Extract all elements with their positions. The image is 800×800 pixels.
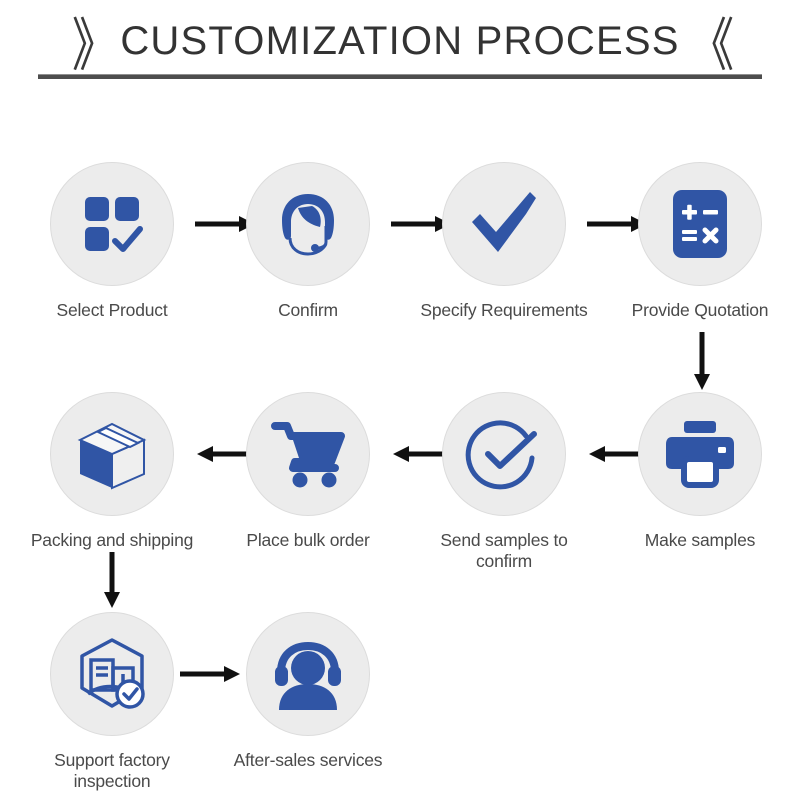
process-step-packing-and-shipping[interactable]: Packing and shipping	[22, 392, 202, 551]
calculator-icon	[667, 186, 733, 262]
step-label: Packing and shipping	[22, 530, 202, 551]
process-step-specify-requirements[interactable]: Specify Requirements	[414, 162, 594, 321]
step-label: Place bulk order	[218, 530, 398, 551]
step-icon-circle	[50, 162, 174, 286]
step-label: Support factory inspection	[22, 750, 202, 792]
arrow-down-icon-row2-row3	[98, 552, 126, 610]
step-icon-circle	[638, 162, 762, 286]
grid-check-icon	[77, 189, 147, 259]
step-icon-circle	[50, 612, 174, 736]
chevron-right-decoration: 《	[688, 0, 728, 82]
step-label: Confirm	[218, 300, 398, 321]
process-step-select-product[interactable]: Select Product	[22, 162, 202, 321]
arrow-down-icon-row1-row2	[688, 332, 716, 392]
process-step-make-samples[interactable]: Make samples	[610, 392, 790, 551]
checkmark-icon	[464, 184, 544, 264]
circle-check-icon	[464, 414, 544, 494]
process-step-place-bulk-order[interactable]: Place bulk order	[218, 392, 398, 551]
step-label: Send samples to confirm	[414, 530, 594, 572]
step-icon-circle	[442, 392, 566, 516]
page-header: 》 CUSTOMIZATION PROCESS 《	[0, 0, 800, 88]
step-label: Make samples	[610, 530, 790, 551]
step-icon-circle	[246, 612, 370, 736]
shopping-cart-icon	[269, 418, 347, 490]
step-label: Specify Requirements	[414, 300, 594, 321]
package-box-icon	[72, 416, 152, 492]
support-person-icon	[269, 638, 347, 710]
process-step-send-samples-to-confirm[interactable]: Send samples to confirm	[414, 392, 594, 572]
process-step-confirm[interactable]: Confirm	[218, 162, 398, 321]
factory-shield-icon	[72, 634, 152, 714]
step-icon-circle	[246, 162, 370, 286]
step-icon-circle	[442, 162, 566, 286]
step-label: After-sales services	[218, 750, 398, 771]
page-title: CUSTOMIZATION PROCESS	[116, 19, 683, 64]
process-step-support-factory-inspection[interactable]: Support factory inspection	[22, 612, 202, 792]
step-icon-circle	[638, 392, 762, 516]
step-label: Select Product	[22, 300, 202, 321]
printer-icon	[662, 419, 738, 489]
process-step-provide-quotation[interactable]: Provide Quotation	[610, 162, 790, 321]
step-icon-circle	[50, 392, 174, 516]
headset-agent-icon	[268, 184, 348, 264]
chevron-left-decoration: 》	[72, 0, 112, 82]
step-label: Provide Quotation	[610, 300, 790, 321]
title-divider	[38, 74, 762, 79]
process-step-after-sales-services[interactable]: After-sales services	[218, 612, 398, 771]
title-row: 》 CUSTOMIZATION PROCESS 《	[0, 8, 800, 74]
step-icon-circle	[246, 392, 370, 516]
